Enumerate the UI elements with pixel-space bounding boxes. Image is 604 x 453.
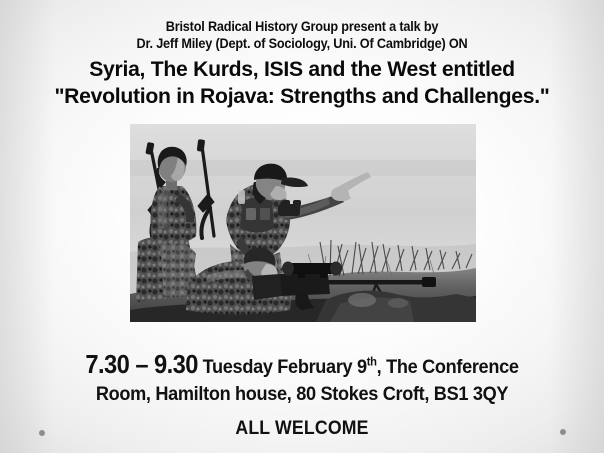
all-welcome-text: ALL WELCOME — [21, 416, 583, 442]
event-details: 7.30 – 9.30 Tuesday February 9th, The Co… — [0, 352, 604, 442]
event-time-date-line: 7.30 – 9.30 Tuesday February 9th, The Co… — [21, 352, 583, 381]
photo-illustration — [130, 124, 476, 322]
event-venue-line-2: Room, Hamilton house, 80 Stokes Croft, B… — [21, 381, 583, 408]
talk-title-line-2: "Revolution in Rojava: Strengths and Cha… — [5, 83, 600, 110]
presenter-line-1: Bristol Radical History Group present a … — [18, 18, 586, 35]
presenter-line-2: Dr. Jeff Miley (Dept. of Sociology, Uni.… — [18, 35, 586, 52]
event-date: Tuesday February 9 — [198, 356, 367, 378]
corner-dot-right — [560, 429, 566, 435]
event-venue-part-1: , The Conference — [377, 356, 519, 378]
corner-dot-left — [39, 430, 45, 436]
event-time: 7.30 – 9.30 — [85, 351, 198, 379]
talk-title-line-1: Syria, The Kurds, ISIS and the West enti… — [5, 56, 600, 83]
event-date-ordinal: th — [367, 355, 377, 369]
event-poster: Bristol Radical History Group present a … — [0, 0, 604, 453]
poster-header: Bristol Radical History Group present a … — [0, 18, 604, 110]
ypj-fighters-photo — [130, 124, 476, 322]
